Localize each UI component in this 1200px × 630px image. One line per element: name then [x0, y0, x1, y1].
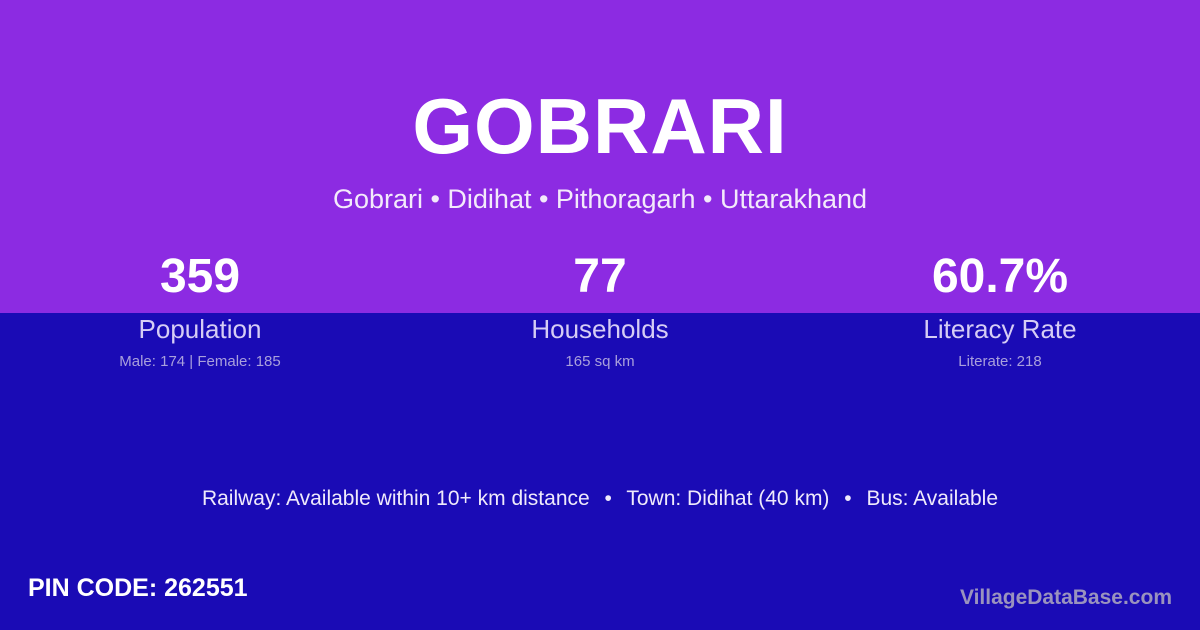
page-title: GOBRARI — [0, 82, 1200, 170]
facility-railway: Railway: Available within 10+ km distanc… — [202, 487, 590, 510]
facility-separator-icon: • — [835, 487, 860, 510]
facility-town: Town: Didihat (40 km) — [626, 487, 829, 510]
site-brand: VillageDataBase.com — [960, 585, 1172, 611]
stat-sublabel: Male: 174 | Female: 185 — [0, 352, 400, 371]
breadcrumb: Gobrari • Didihat • Pithoragarh • Uttara… — [0, 183, 1200, 216]
village-info-card: GOBRARI Gobrari • Didihat • Pithoragarh … — [0, 0, 1200, 630]
stat-label: Households — [400, 314, 800, 344]
facility-bus: Bus: Available — [866, 487, 998, 510]
stat-label: Population — [0, 314, 400, 344]
stats-row: 359 Population Male: 174 | Female: 185 7… — [0, 246, 1200, 371]
stat-population: 359 Population Male: 174 | Female: 185 — [0, 246, 400, 371]
facility-separator-icon: • — [596, 487, 621, 510]
stat-sublabel: 165 sq km — [400, 352, 800, 371]
stat-value: 359 — [0, 246, 400, 308]
stat-households: 77 Households 165 sq km — [400, 246, 800, 371]
stat-sublabel: Literate: 218 — [800, 352, 1200, 371]
stat-value: 60.7% — [800, 246, 1200, 308]
facilities-line: Railway: Available within 10+ km distanc… — [0, 484, 1200, 514]
stat-label: Literacy Rate — [800, 314, 1200, 344]
stat-value: 77 — [400, 246, 800, 308]
pin-code: PIN CODE: 262551 — [28, 573, 248, 603]
stat-literacy-rate: 60.7% Literacy Rate Literate: 218 — [800, 246, 1200, 371]
